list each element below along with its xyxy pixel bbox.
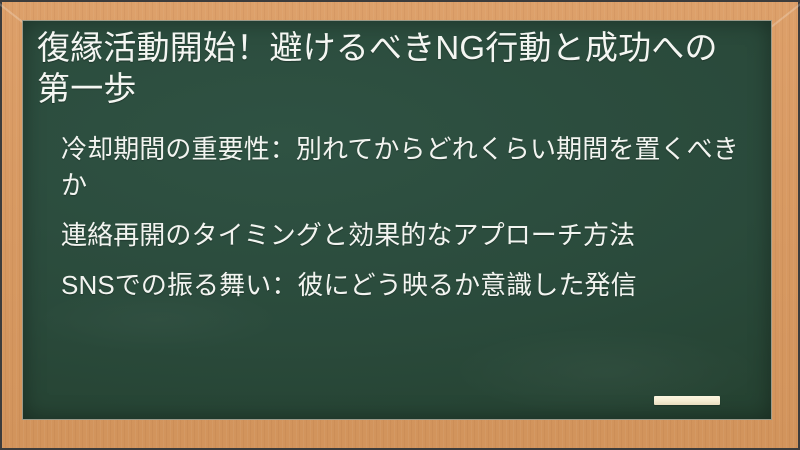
chalk-stick-icon [654, 396, 720, 405]
board-content: 復縁活動開始！避けるべきNG行動と成功への第一歩 冷却期間の重要性：別れてからど… [37, 27, 761, 317]
page-title: 復縁活動開始！避けるべきNG行動と成功への第一歩 [37, 27, 737, 109]
list-item: SNSでの振る舞い：彼にどう映るか意識した発信 [37, 267, 747, 303]
blackboard-slide: 復縁活動開始！避けるべきNG行動と成功への第一歩 冷却期間の重要性：別れてからど… [0, 0, 800, 450]
list-item: 冷却期間の重要性：別れてからどれくらい期間を置くべきか [37, 131, 747, 203]
list-item: 連絡再開のタイミングと効果的なアプローチ方法 [37, 217, 747, 253]
topic-list: 冷却期間の重要性：別れてからどれくらい期間を置くべきか 連絡再開のタイミングと効… [37, 131, 761, 303]
chalkboard-surface: 復縁活動開始！避けるべきNG行動と成功への第一歩 冷却期間の重要性：別れてからど… [22, 20, 772, 420]
